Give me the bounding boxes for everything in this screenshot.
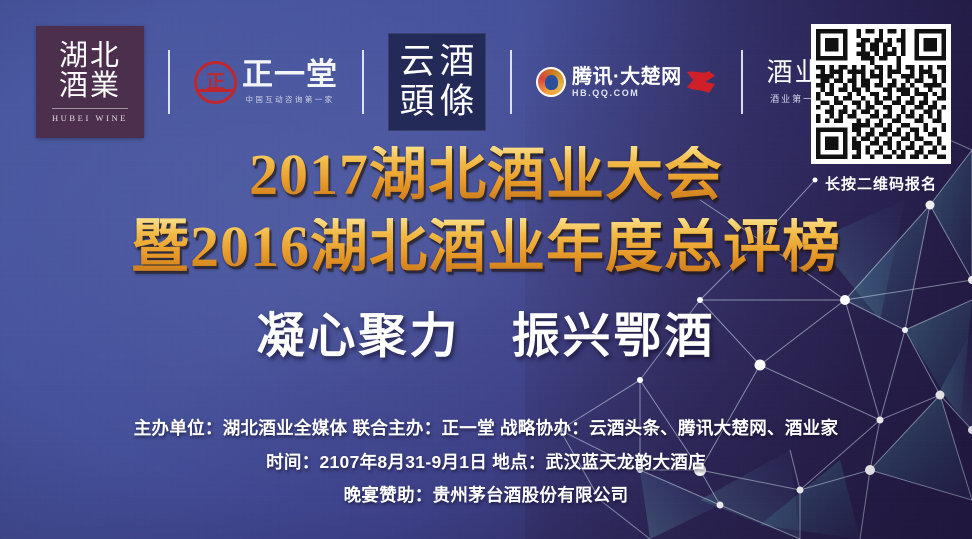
logo-divider [510, 50, 512, 114]
logo-yjtt-char-3: 頭 [397, 82, 437, 122]
headline-slogan: 凝心聚力 振兴鄂酒 [256, 296, 715, 366]
headline-line-1: 2017湖北酒业大会 [249, 146, 723, 204]
logo-divider [362, 50, 364, 114]
logo-tencent-url: HB.QQ.COM [572, 88, 682, 98]
logo-hubei-line1: 湖北 [59, 41, 121, 71]
logo-hubei-english: HUBEI WINE [52, 108, 128, 123]
logo-yunjiutoutiao: 云 酒 頭 條 [388, 33, 486, 131]
logo-hubei-line2: 酒業 [59, 71, 121, 101]
logo-zhengyitang: 正 正一堂 中国互动咨询第一家 [194, 59, 338, 105]
logo-yjtt-char-1: 云 [397, 42, 437, 82]
seal-char: 正 [206, 73, 225, 92]
logo-tencent-name: 腾讯·大楚网 [572, 67, 682, 88]
tencent-penguin-icon [536, 67, 566, 97]
headline-block: 2017湖北酒业大会 暨2016湖北酒业年度总评榜 凝心聚力 振兴鄂酒 [0, 146, 972, 366]
logo-divider [741, 50, 743, 114]
event-poster: 湖北 酒業 HUBEI WINE 正 正一堂 中国互动咨询第一家 云 酒 頭 條 [0, 0, 972, 539]
logo-yjtt-char-2: 酒 [437, 42, 477, 82]
info-dinner-sponsor: 晚宴赞助：贵州茅台酒股份有限公司 [0, 479, 972, 513]
sponsor-logo-bar: 湖北 酒業 HUBEI WINE 正 正一堂 中国互动咨询第一家 云 酒 頭 條 [36, 26, 851, 138]
qr-code[interactable] [811, 24, 951, 164]
red-swoosh-icon [685, 69, 717, 95]
event-info-block: 主办单位：湖北酒业全媒体 联合主办：正一堂 战略协办：云酒头条、腾讯大楚网、酒业… [0, 412, 972, 513]
logo-divider [168, 50, 170, 114]
logo-hubei-wine: 湖北 酒業 HUBEI WINE [36, 26, 144, 138]
info-time-venue: 时间：2107年8月31-9月1日 地点：武汉蓝天龙韵大酒店 [0, 446, 972, 480]
info-organizers: 主办单位：湖北酒业全媒体 联合主办：正一堂 战略协办：云酒头条、腾讯大楚网、酒业… [0, 412, 972, 446]
logo-tencent-dachu: 腾讯·大楚网 HB.QQ.COM [536, 67, 717, 98]
headline-line-2: 暨2016湖北酒业年度总评榜 [131, 218, 841, 276]
logo-zhengyitang-name: 正一堂 [242, 59, 338, 90]
logo-zhengyitang-tagline: 中国互动咨询第一家 [242, 94, 338, 105]
logo-yjtt-char-4: 條 [437, 82, 477, 122]
seal-icon: 正 [194, 61, 237, 104]
